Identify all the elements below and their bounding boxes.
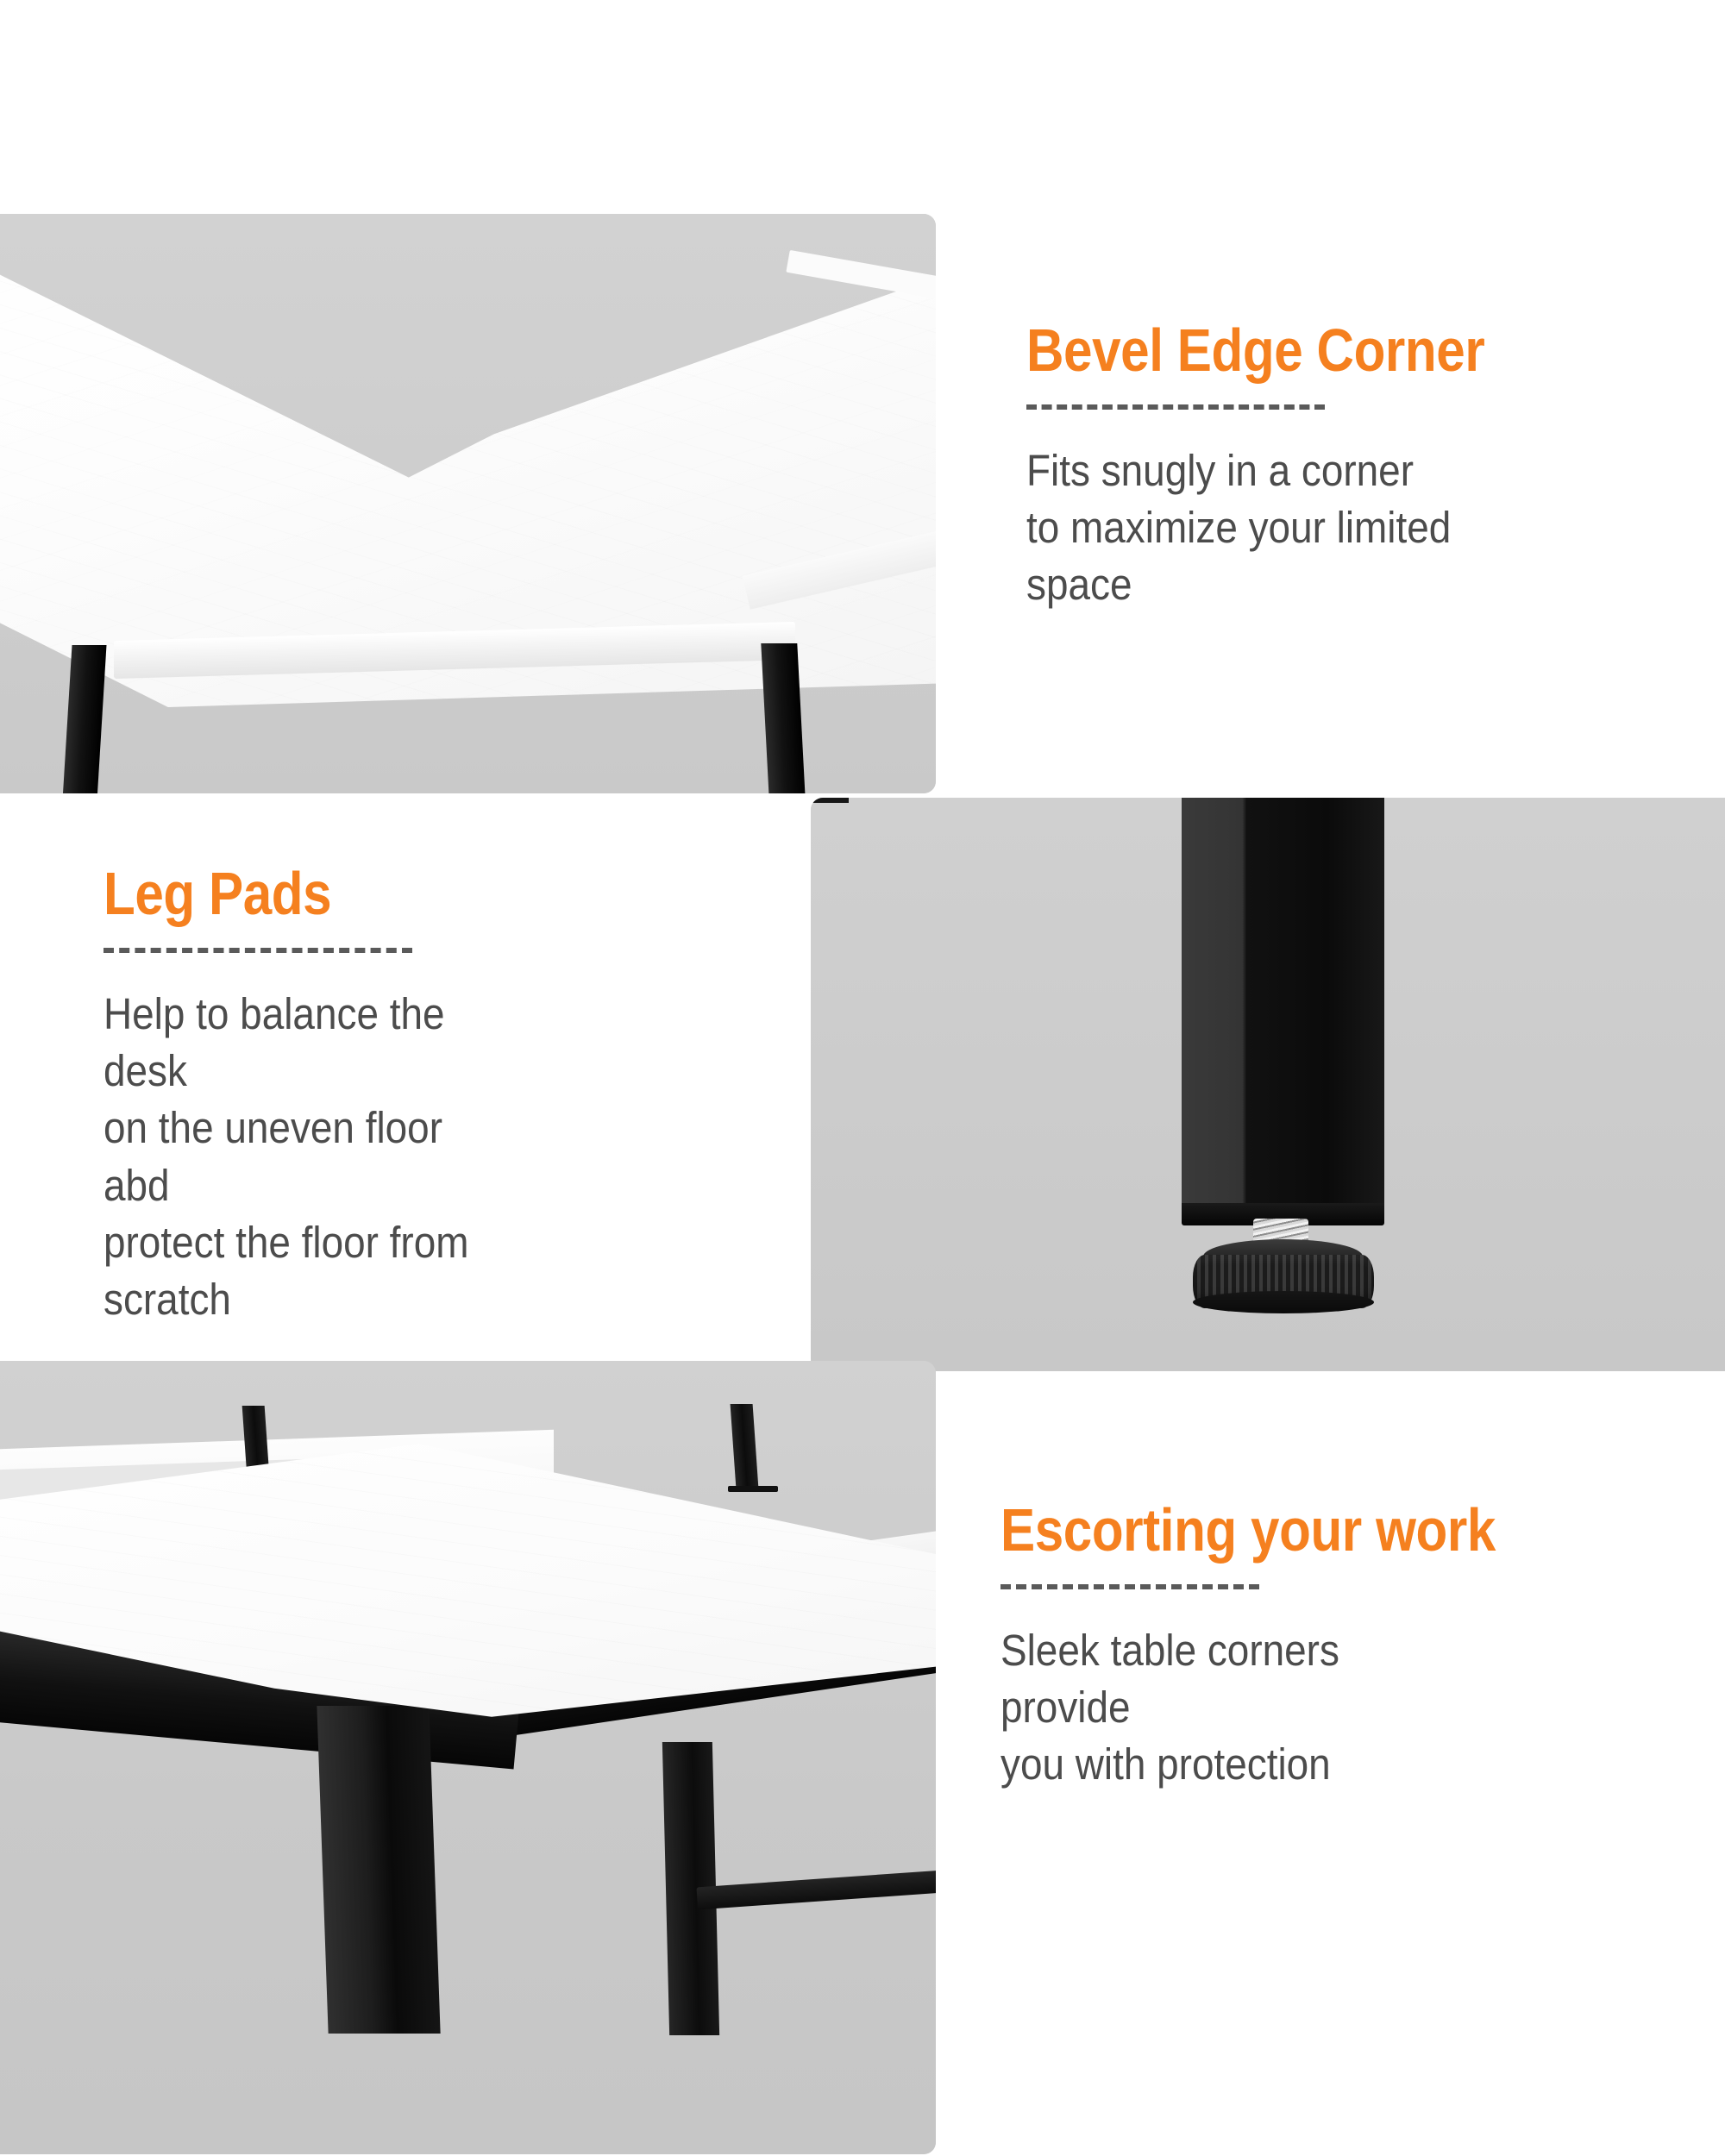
desk-corner-leg (317, 1706, 440, 2034)
infographic-canvas: Bevel Edge Corner Fits snugly in a corne… (0, 0, 1725, 2156)
feature-description-bevel-edge-corner: Fits snugly in a corner to maximize your… (1026, 442, 1461, 614)
adjacent-leg-sliver (811, 798, 849, 803)
feature-block-leg-pads: Leg Pads Help to balance the desk on the… (103, 862, 552, 1329)
leg-pad-base (1193, 1291, 1374, 1313)
feature-title-bevel-edge-corner: Bevel Edge Corner (1026, 319, 1484, 382)
dashed-divider (1000, 1584, 1259, 1589)
photo-leg-pad (811, 798, 1725, 1371)
dashed-divider (1026, 404, 1325, 410)
feature-block-escorting-your-work: Escorting your work Sleek table corners … (1000, 1499, 1576, 1794)
feature-description-leg-pads: Help to balance the desk on the uneven f… (103, 986, 507, 1329)
desk-leg-body (1182, 798, 1384, 1219)
feature-title-escorting-your-work: Escorting your work (1000, 1499, 1496, 1562)
feature-description-escorting-your-work: Sleek table corners provide you with pro… (1000, 1622, 1435, 1794)
dashed-divider (103, 948, 412, 953)
photo-desk-corner (0, 1361, 936, 2154)
feature-title-leg-pads: Leg Pads (103, 862, 489, 925)
background-leg-foot-right (728, 1486, 778, 1492)
feature-block-bevel-edge-corner: Bevel Edge Corner Fits snugly in a corne… (1026, 319, 1559, 614)
photo-bevel-edge-corner (0, 214, 936, 793)
